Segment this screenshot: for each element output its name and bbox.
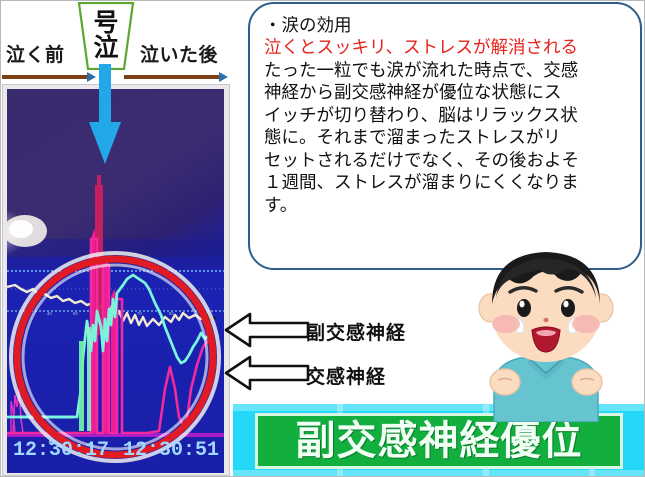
- banner-text: 副交感神経優位: [296, 421, 583, 461]
- pointer-sympathetic-arrow-icon: [224, 355, 310, 391]
- chart-time-start: 12:30:17: [13, 439, 109, 462]
- callout-line-4: 神経から副交感神経が優位な状態にス: [264, 81, 628, 103]
- callout-line-8: １週間、ストレスが溜まりにくくなりま: [264, 171, 628, 193]
- pointer-label-parasympathetic: 副交感神経: [306, 318, 406, 345]
- event-marker-gokyu: 号 泣: [74, 2, 138, 70]
- pointer-label-sympathetic: 交感神経: [306, 362, 386, 389]
- infographic-root: 泣く前 泣いた後 号 泣: [0, 0, 645, 477]
- callout-line-9: す。: [264, 194, 628, 216]
- description-callout: ・涙の効用 泣くとスッキリ、ストレスが解消される たった一粒でも涙が流れた時点で…: [248, 2, 642, 270]
- blue-down-arrow-icon: [88, 64, 122, 164]
- chart-time-end: 12:30:51: [123, 439, 219, 462]
- svg-text:70: 70: [137, 311, 142, 316]
- timeline-label-before: 泣く前: [6, 40, 65, 67]
- callout-line-6: 態に。それまで溜まったストレスがリ: [264, 126, 628, 148]
- gokyu-char-2: 泣: [93, 36, 118, 61]
- callout-line-5: イッチが切り替わり、脳はリラックス状: [264, 104, 628, 126]
- callout-line-1: ・涙の効用: [264, 14, 628, 36]
- timeline-label-after: 泣いた後: [140, 40, 218, 67]
- arrow-shaft: [2, 75, 87, 79]
- callout-line-3: たった一粒でも涙が流れた時点で、交感: [264, 59, 628, 81]
- event-marker-text: 号 泣: [74, 2, 138, 70]
- banner-tile: [233, 470, 645, 477]
- svg-text:40: 40: [47, 311, 52, 316]
- arrow-before-crying: [2, 72, 96, 81]
- svg-text:50: 50: [73, 311, 78, 316]
- callout-line-2-highlight: 泣くとスッキリ、ストレスが解消される: [264, 36, 628, 58]
- crying-boy-illustration: [448, 246, 644, 422]
- gokyu-char-1: 号: [93, 11, 118, 36]
- arrow-after-crying: [124, 72, 228, 81]
- callout-line-7: セットされるだけでなく、その後およそ: [264, 149, 628, 171]
- arrow-shaft: [124, 75, 219, 79]
- pointer-parasympathetic-arrow-icon: [224, 312, 310, 348]
- arrow-head-icon: [219, 72, 228, 82]
